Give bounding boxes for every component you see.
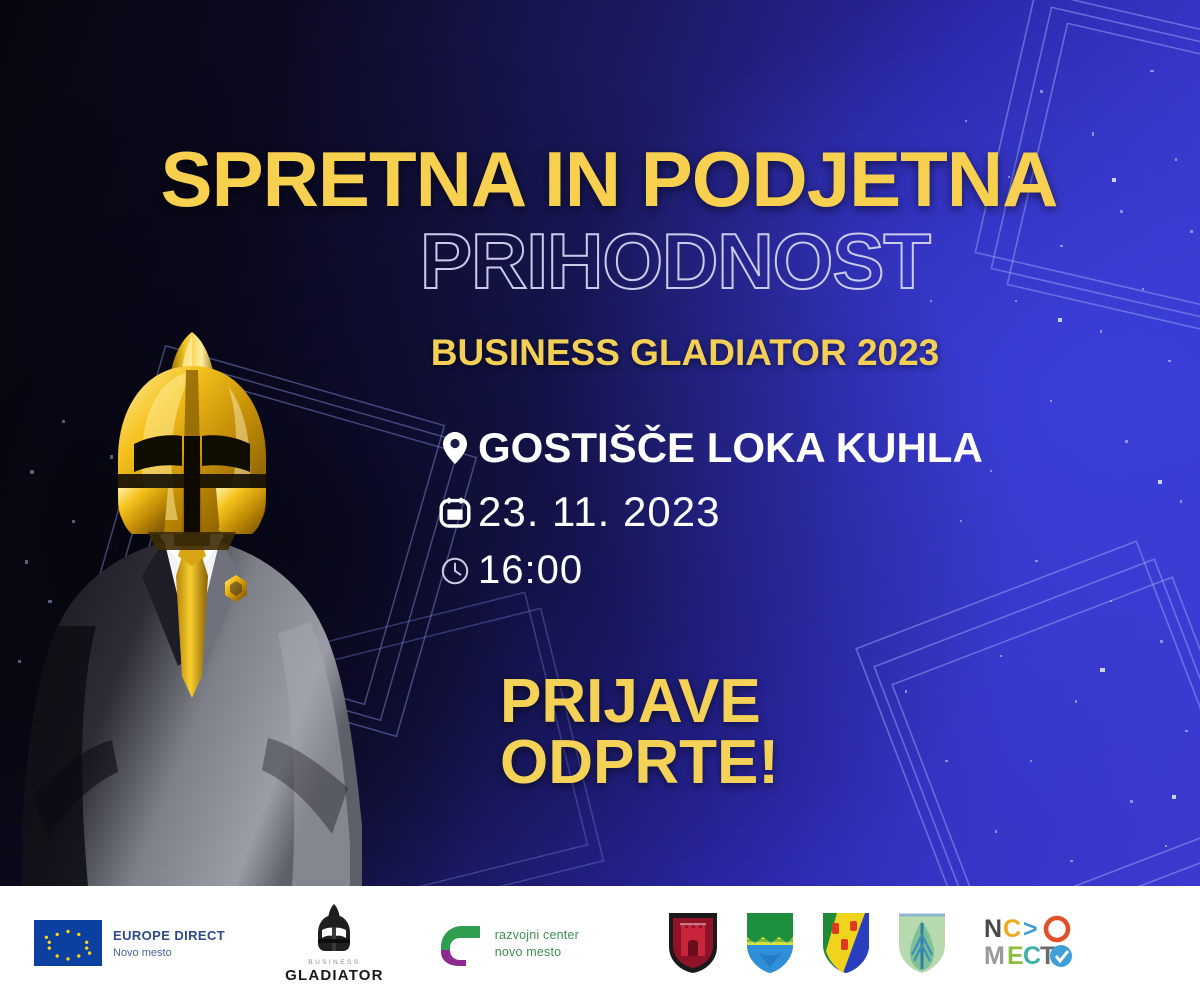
logo-razvojni-center: razvojni center novo mesto	[440, 919, 579, 967]
logo-novo-mesto-city: N C > M E C T	[983, 912, 1079, 974]
europe-direct-text: EUROPE DIRECT Novo mesto	[113, 928, 225, 959]
svg-text:N: N	[984, 915, 1002, 943]
shield-crest-yellow-icon	[821, 911, 871, 975]
svg-text:C: C	[1023, 942, 1041, 970]
razvojni-center-text: razvojni center novo mesto	[495, 928, 579, 959]
svg-text:E: E	[1007, 942, 1024, 970]
cta-line-2: ODPRTE!	[500, 733, 779, 794]
gladiator-helmet-icon	[313, 903, 355, 957]
gladiator-title: GLADIATOR	[285, 967, 384, 984]
subheadline: BUSINESS GLADIATOR 2023	[0, 332, 1200, 374]
rc-c-mark-icon	[440, 919, 486, 967]
event-venue-row: GOSTIŠČE LOKA KUHLA	[432, 424, 1092, 472]
headline-line-1: SPRETNA IN PODJETNA	[0, 142, 1200, 217]
logo-coat-of-arms-yellow	[821, 911, 871, 975]
svg-text:C: C	[1003, 915, 1021, 943]
calendar-icon	[432, 496, 478, 528]
novo-mesto-logo-icon: N C > M E C T	[983, 912, 1079, 974]
gladiator-subtitle: BUSINESS	[308, 959, 360, 966]
svg-text:>: >	[1023, 915, 1038, 943]
sponsor-logo-bar: EUROPE DIRECT Novo mesto BUSINESS	[0, 886, 1200, 1000]
clock-icon	[432, 557, 478, 585]
svg-text:M: M	[984, 942, 1005, 970]
event-details: GOSTIŠČE LOKA KUHLA 23. 11. 2023 16:	[432, 424, 1092, 607]
event-poster: SPRETNA IN PODJETNA PRIHODNOST BUSINESS …	[0, 0, 1200, 1000]
shield-crest-red-icon	[667, 911, 719, 975]
headline-line-2: PRIHODNOST	[0, 224, 1200, 299]
europe-direct-subtitle: Novo mesto	[113, 947, 225, 959]
event-time-row: 16:00	[432, 548, 1092, 593]
shield-crest-green-icon	[745, 911, 795, 975]
event-time-text: 16:00	[478, 548, 583, 593]
razvojni-center-title: razvojni center	[495, 928, 579, 942]
logo-coat-of-arms-red	[667, 911, 719, 975]
logo-coat-of-arms-green	[745, 911, 795, 975]
event-venue-text: GOSTIŠČE LOKA KUHLA	[478, 424, 983, 472]
europe-direct-title: EUROPE DIRECT	[113, 928, 225, 943]
logo-coat-of-arms-teal	[897, 911, 947, 975]
eu-flag-icon	[34, 920, 102, 966]
logo-business-gladiator: BUSINESS GLADIATOR	[285, 903, 384, 984]
registration-cta: PRIJAVE ODPRTE!	[500, 672, 779, 794]
logo-europe-direct: EUROPE DIRECT Novo mesto	[34, 920, 225, 966]
event-date-text: 23. 11. 2023	[478, 488, 720, 536]
shield-crest-teal-icon	[897, 911, 947, 975]
razvojni-center-subtitle: novo mesto	[495, 945, 579, 959]
event-date-row: 23. 11. 2023	[432, 488, 1092, 536]
location-pin-icon	[432, 431, 478, 465]
cta-line-1: PRIJAVE	[500, 672, 779, 733]
